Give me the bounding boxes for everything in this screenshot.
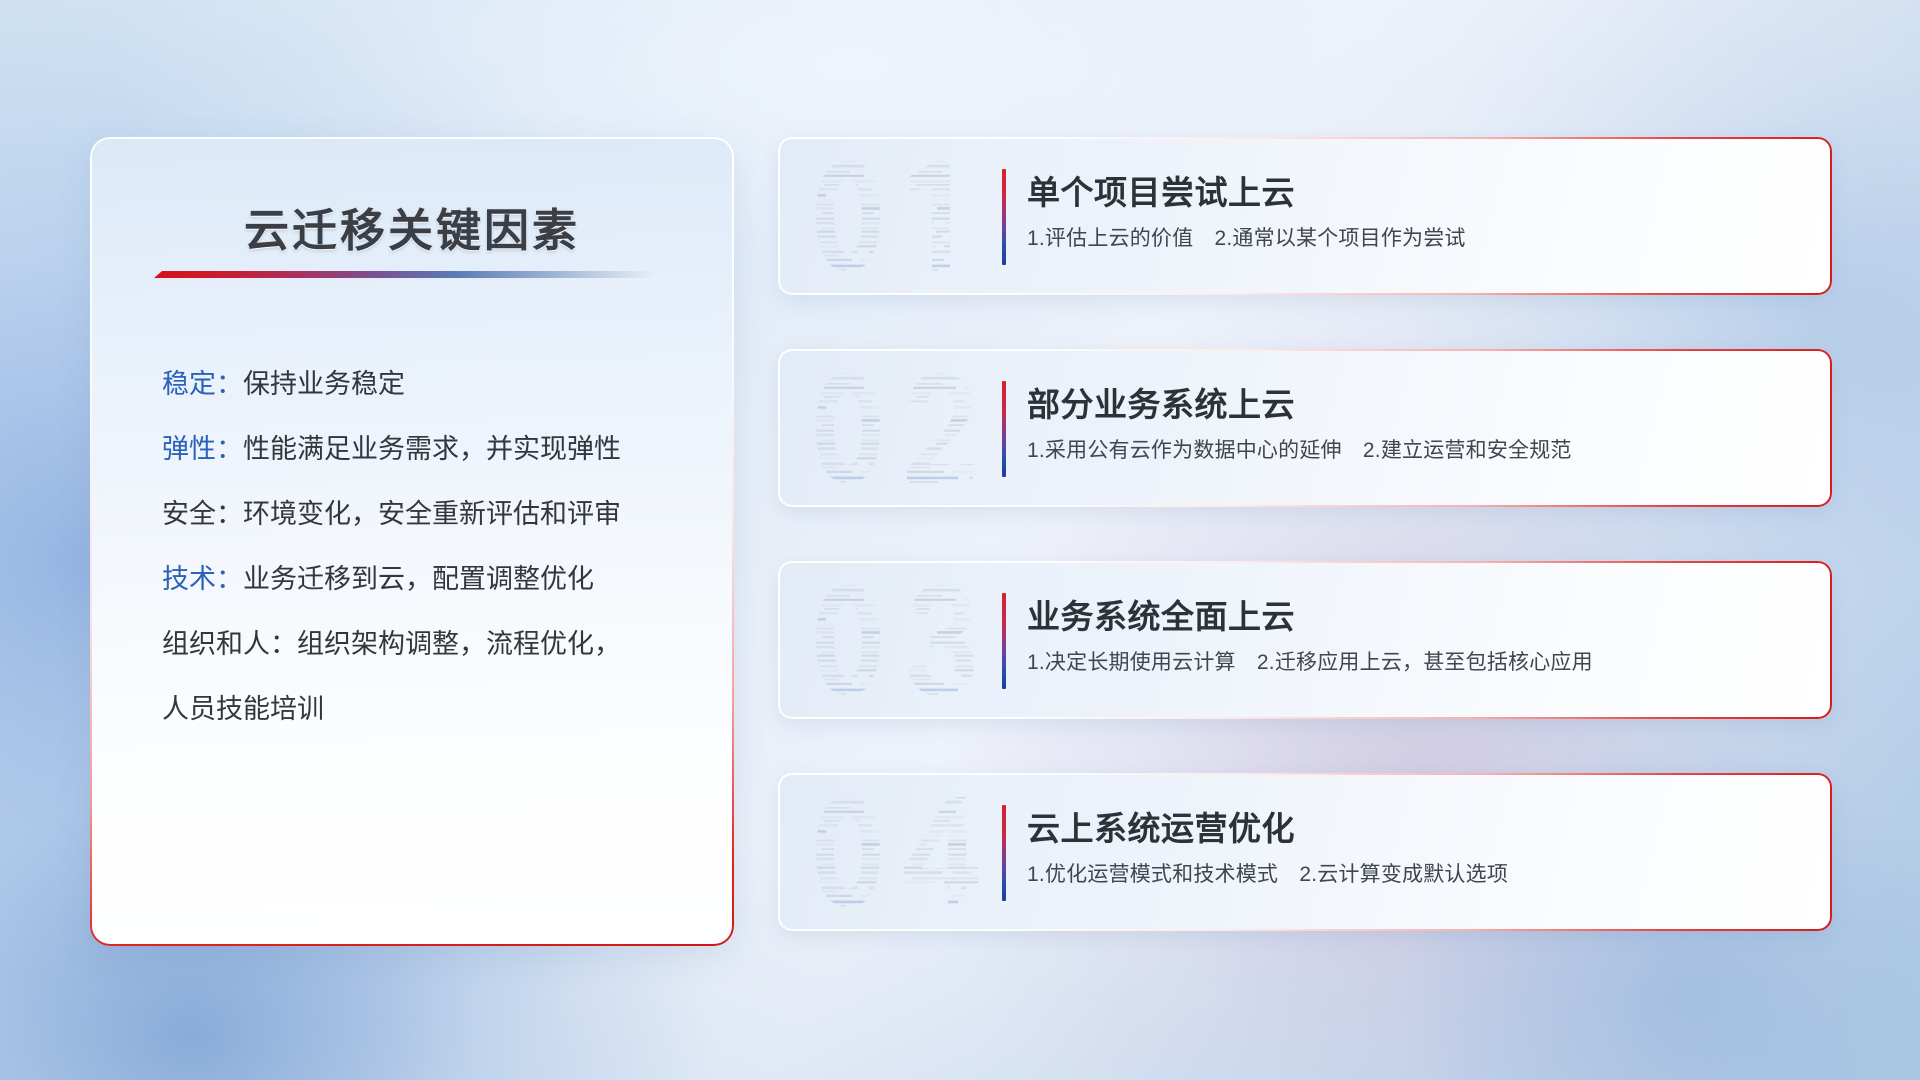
- stage-description: 1.采用公有云作为数据中心的延伸 2.建立运营和安全规范: [1027, 434, 1572, 464]
- factor-text: 保持业务稳定: [243, 369, 405, 399]
- stage-title: 云上系统运营优化: [1027, 802, 1295, 850]
- stage-number-02-watermark-icon: [806, 367, 986, 489]
- factor-row-organization-cont: 人员技能培训: [162, 696, 696, 723]
- key-factors-panel: 云迁移关键因素: [92, 139, 732, 944]
- factor-text: 性能满足业务需求，并实现弹性: [243, 434, 621, 464]
- stage-accent-bar: [1002, 169, 1006, 265]
- stage-description: 1.评估上云的价值 2.通常以某个项目作为尝试: [1027, 222, 1466, 252]
- stage-accent-bar: [1002, 381, 1006, 477]
- stage-accent-bar: [1002, 593, 1006, 689]
- key-factors-panel-inner: 云迁移关键因素: [92, 139, 732, 944]
- stage-title: 业务系统全面上云: [1027, 590, 1295, 638]
- factor-text: 人员技能培训: [162, 694, 324, 724]
- migration-stage-cards: 单个项目尝试上云 1.评估上云的价值 2.通常以某个项目作为尝试 部分业务系统上…: [780, 139, 1830, 944]
- factor-text: 组织架构调整，流程优化，: [297, 629, 621, 659]
- stage-accent-bar: [1002, 805, 1006, 901]
- factor-label: 弹性：: [162, 434, 243, 464]
- factor-label: 稳定：: [162, 369, 243, 399]
- stage-number-01-watermark-icon: [806, 155, 986, 277]
- factor-text: 环境变化，安全重新评估和评审: [243, 499, 621, 529]
- factor-label: 技术：: [162, 564, 243, 594]
- factor-row-stability: 稳定：保持业务稳定: [162, 371, 696, 398]
- page-title: 云迁移关键因素: [92, 194, 732, 259]
- factor-label: 安全：: [162, 499, 243, 529]
- stage-card-04[interactable]: 云上系统运营优化 1.优化运营模式和技术模式 2.云计算变成默认选项: [780, 775, 1830, 929]
- factor-label: 组织和人：: [162, 629, 297, 659]
- factor-text: 业务迁移到云，配置调整优化: [243, 564, 594, 594]
- title-underline-rule: [154, 271, 654, 281]
- factor-row-elasticity: 弹性：性能满足业务需求，并实现弹性: [162, 436, 696, 463]
- stage-description: 1.优化运营模式和技术模式 2.云计算变成默认选项: [1027, 858, 1508, 888]
- factor-row-security: 安全：环境变化，安全重新评估和评审: [162, 501, 696, 528]
- factor-row-technology: 技术：业务迁移到云，配置调整优化: [162, 566, 696, 593]
- stage-card-03[interactable]: 业务系统全面上云 1.决定长期使用云计算 2.迁移应用上云，甚至包括核心应用: [780, 563, 1830, 717]
- stage-title: 部分业务系统上云: [1027, 378, 1295, 426]
- key-factors-list: 稳定：保持业务稳定 弹性：性能满足业务需求，并实现弹性 安全：环境变化，安全重新…: [162, 371, 696, 723]
- stage-number-04-watermark-icon: [806, 791, 986, 913]
- factor-row-organization: 组织和人：组织架构调整，流程优化，: [162, 631, 696, 658]
- stage-description: 1.决定长期使用云计算 2.迁移应用上云，甚至包括核心应用: [1027, 646, 1593, 676]
- stage-number-03-watermark-icon: [806, 579, 986, 701]
- stage-title: 单个项目尝试上云: [1027, 166, 1295, 214]
- stage-card-01[interactable]: 单个项目尝试上云 1.评估上云的价值 2.通常以某个项目作为尝试: [780, 139, 1830, 293]
- stage-card-02[interactable]: 部分业务系统上云 1.采用公有云作为数据中心的延伸 2.建立运营和安全规范: [780, 351, 1830, 505]
